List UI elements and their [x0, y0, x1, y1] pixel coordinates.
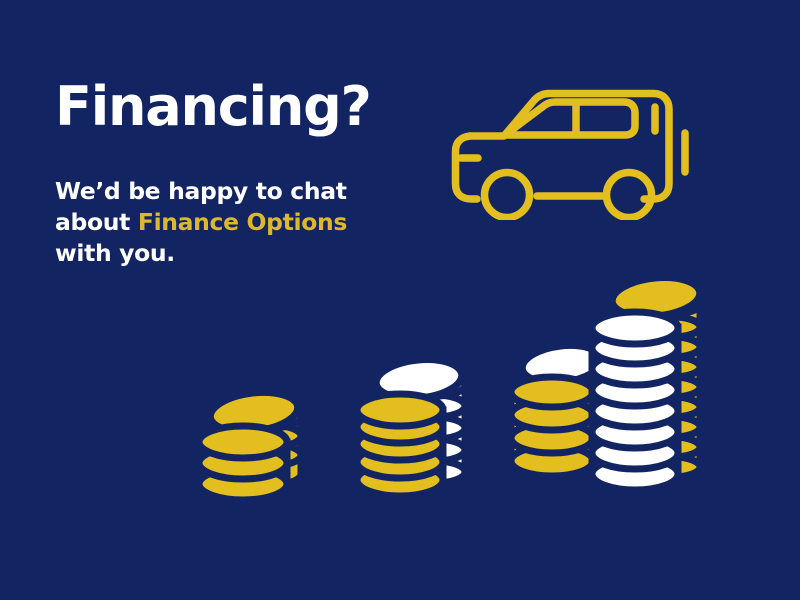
- stack-small-front: [199, 426, 287, 506]
- slide-canvas: Financing? We’d be happy to chat about F…: [0, 0, 800, 600]
- stack-large-left: [511, 377, 593, 480]
- stack-medium-front: [357, 394, 443, 501]
- stack-large-front: [592, 312, 678, 495]
- coin-stacks-icon: [0, 0, 800, 600]
